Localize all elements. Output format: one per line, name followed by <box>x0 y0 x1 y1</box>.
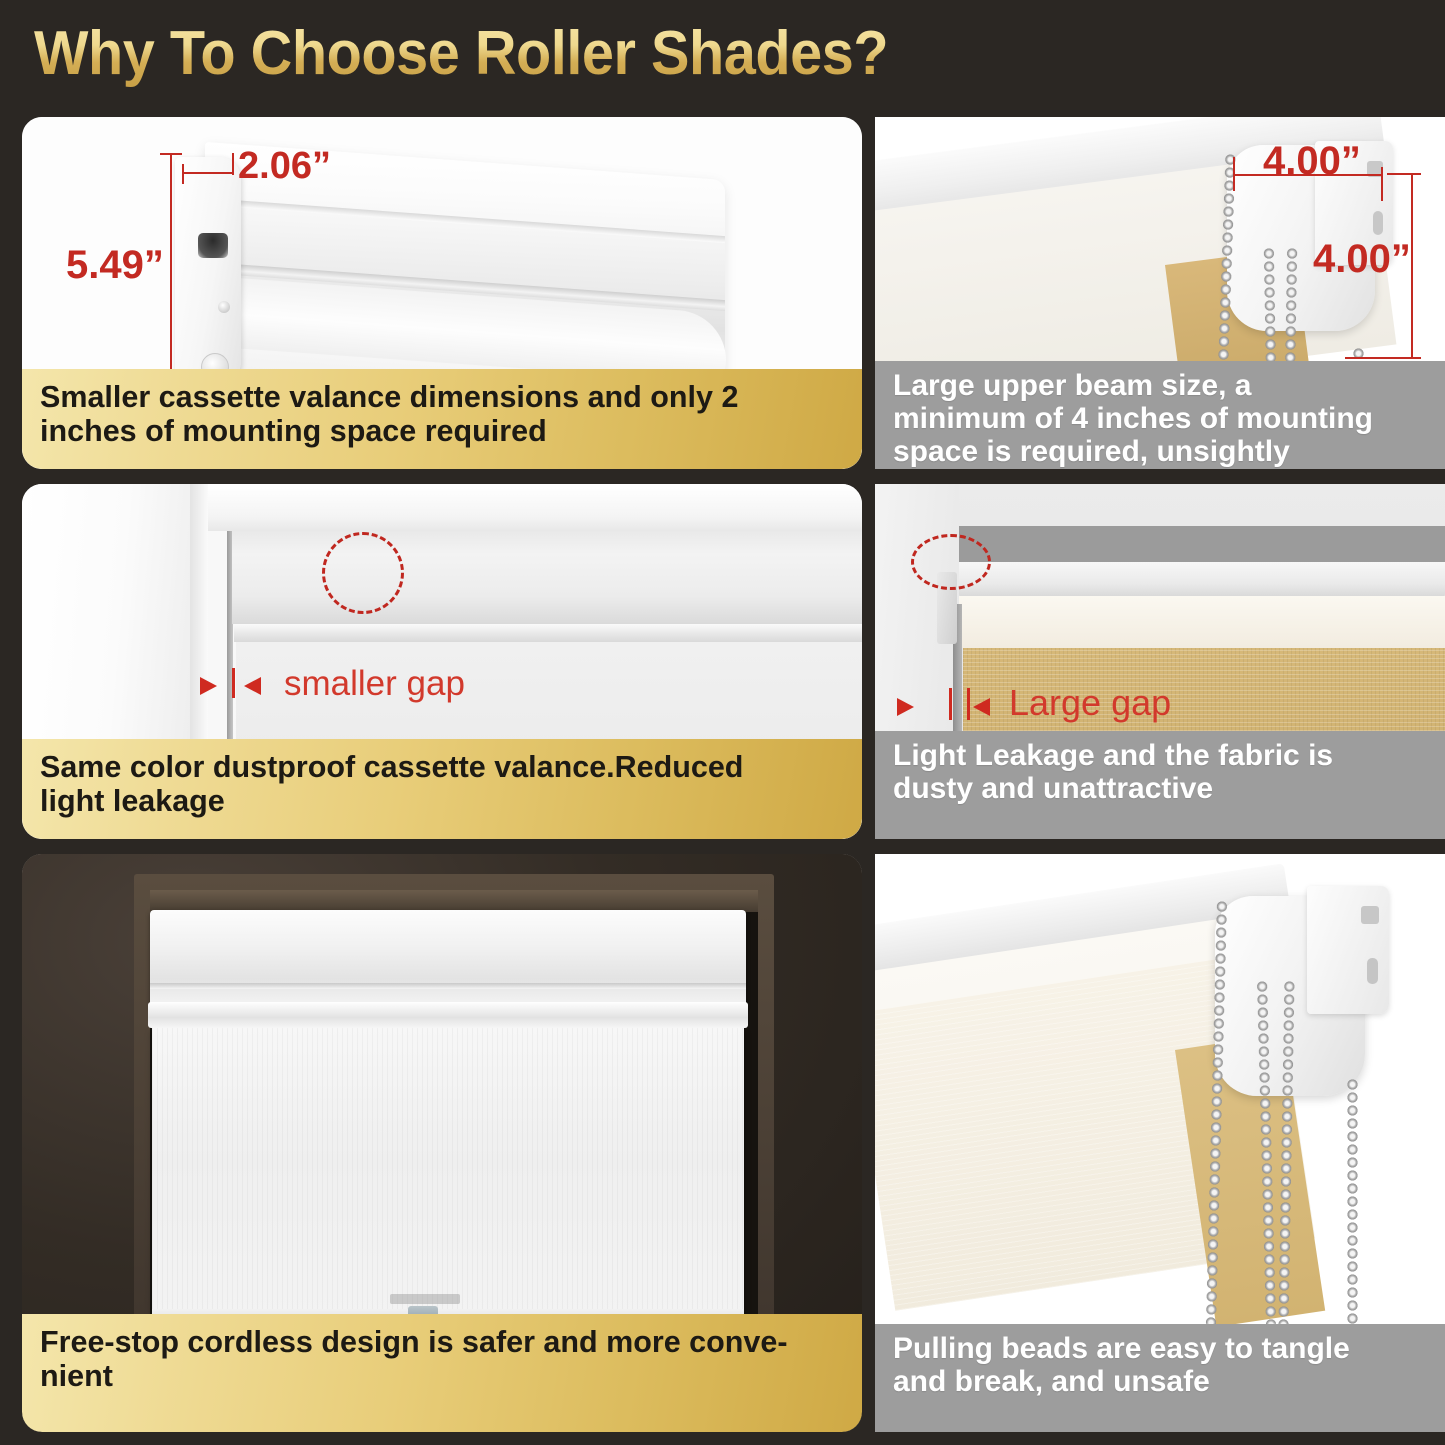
caption-line: dusty and unattractive <box>893 772 1425 805</box>
panel-caption: Pulling beads are easy to tangle and bre… <box>875 1324 1445 1432</box>
dimension-tick-top <box>1387 173 1421 175</box>
panel-pulling-beads[interactable]: Pulling beads are easy to tangle and bre… <box>875 854 1445 1432</box>
caption-line: Pulling beads are easy to tangle <box>893 1332 1425 1365</box>
highlight-circle-icon <box>911 534 991 590</box>
gap-label: Large gap <box>1009 682 1171 724</box>
brand-logo <box>390 1294 460 1304</box>
gap-label: smaller gap <box>284 664 465 704</box>
dimension-label-width: 4.00” <box>1263 139 1361 184</box>
dimension-line-horizontal <box>182 172 234 174</box>
panel-dustproof-cassette[interactable]: smaller gap Same color dustproof cassett… <box>22 484 862 839</box>
panel-smaller-cassette[interactable]: 5.49” 2.06” Smaller cassette valance dim… <box>22 117 862 469</box>
gap-arrow-left-icon <box>973 698 990 716</box>
caption-line: minimum of 4 inches of mounting <box>893 402 1425 435</box>
gap-arrow-right-icon <box>897 698 914 716</box>
panel-cordless-design[interactable]: Free-stop cordless design is safer and m… <box>22 854 862 1432</box>
caption-line: inches of mounting space required <box>40 415 842 449</box>
caption-line: and break, and unsafe <box>893 1365 1425 1398</box>
dimension-line-vertical <box>170 153 172 388</box>
caption-line: Light Leakage and the fabric is <box>893 739 1425 772</box>
caption-line: light leakage <box>40 785 842 819</box>
gap-measure-bar <box>949 688 952 720</box>
caption-line: Free-stop cordless design is safer and m… <box>40 1326 842 1360</box>
dimension-tick-right <box>232 153 234 175</box>
dimension-label-height: 5.49” <box>66 243 164 288</box>
dimension-tick-right <box>1381 167 1383 201</box>
panel-large-upper-beam[interactable]: 4.00” 4.00” Large upper beam size, a min… <box>875 117 1445 469</box>
comparison-grid: 5.49” 2.06” Smaller cassette valance dim… <box>0 112 1445 1445</box>
caption-line: Smaller cassette valance dimensions and … <box>40 381 842 415</box>
caption-line: space is required, unsightly <box>893 435 1425 468</box>
header-bar: Why To Choose Roller Shades? <box>0 0 1445 112</box>
caption-line: Same color dustproof cassette valance.Re… <box>40 751 842 785</box>
panel-light-leakage[interactable]: Large gap Light Leakage and the fabric i… <box>875 484 1445 839</box>
dimension-line-height <box>1411 173 1413 358</box>
gap-measure-bar <box>967 688 970 720</box>
caption-line: Large upper beam size, a <box>893 369 1425 402</box>
panel-caption: Large upper beam size, a minimum of 4 in… <box>875 361 1445 469</box>
gap-arrow-right-icon <box>200 677 217 695</box>
dimension-tick-left <box>1233 157 1235 191</box>
bead-chain <box>1347 1078 1358 1324</box>
panel-caption: Smaller cassette valance dimensions and … <box>22 369 862 469</box>
gap-arrow-left-icon <box>244 677 261 695</box>
dimension-tick-bottom <box>1345 357 1421 359</box>
dimension-tick-left <box>182 164 184 184</box>
panel-caption: Free-stop cordless design is safer and m… <box>22 1314 862 1432</box>
dimension-label-depth: 2.06” <box>238 145 331 188</box>
gap-measure-bar <box>232 668 235 698</box>
panel-caption: Same color dustproof cassette valance.Re… <box>22 739 862 839</box>
caption-line: nient <box>40 1360 842 1394</box>
panel-caption: Light Leakage and the fabric is dusty an… <box>875 731 1445 839</box>
page-title: Why To Choose Roller Shades? <box>34 18 888 89</box>
dimension-label-height: 4.00” <box>1313 237 1411 282</box>
dimension-tick-top <box>160 153 182 155</box>
highlight-circle-icon <box>322 532 404 614</box>
